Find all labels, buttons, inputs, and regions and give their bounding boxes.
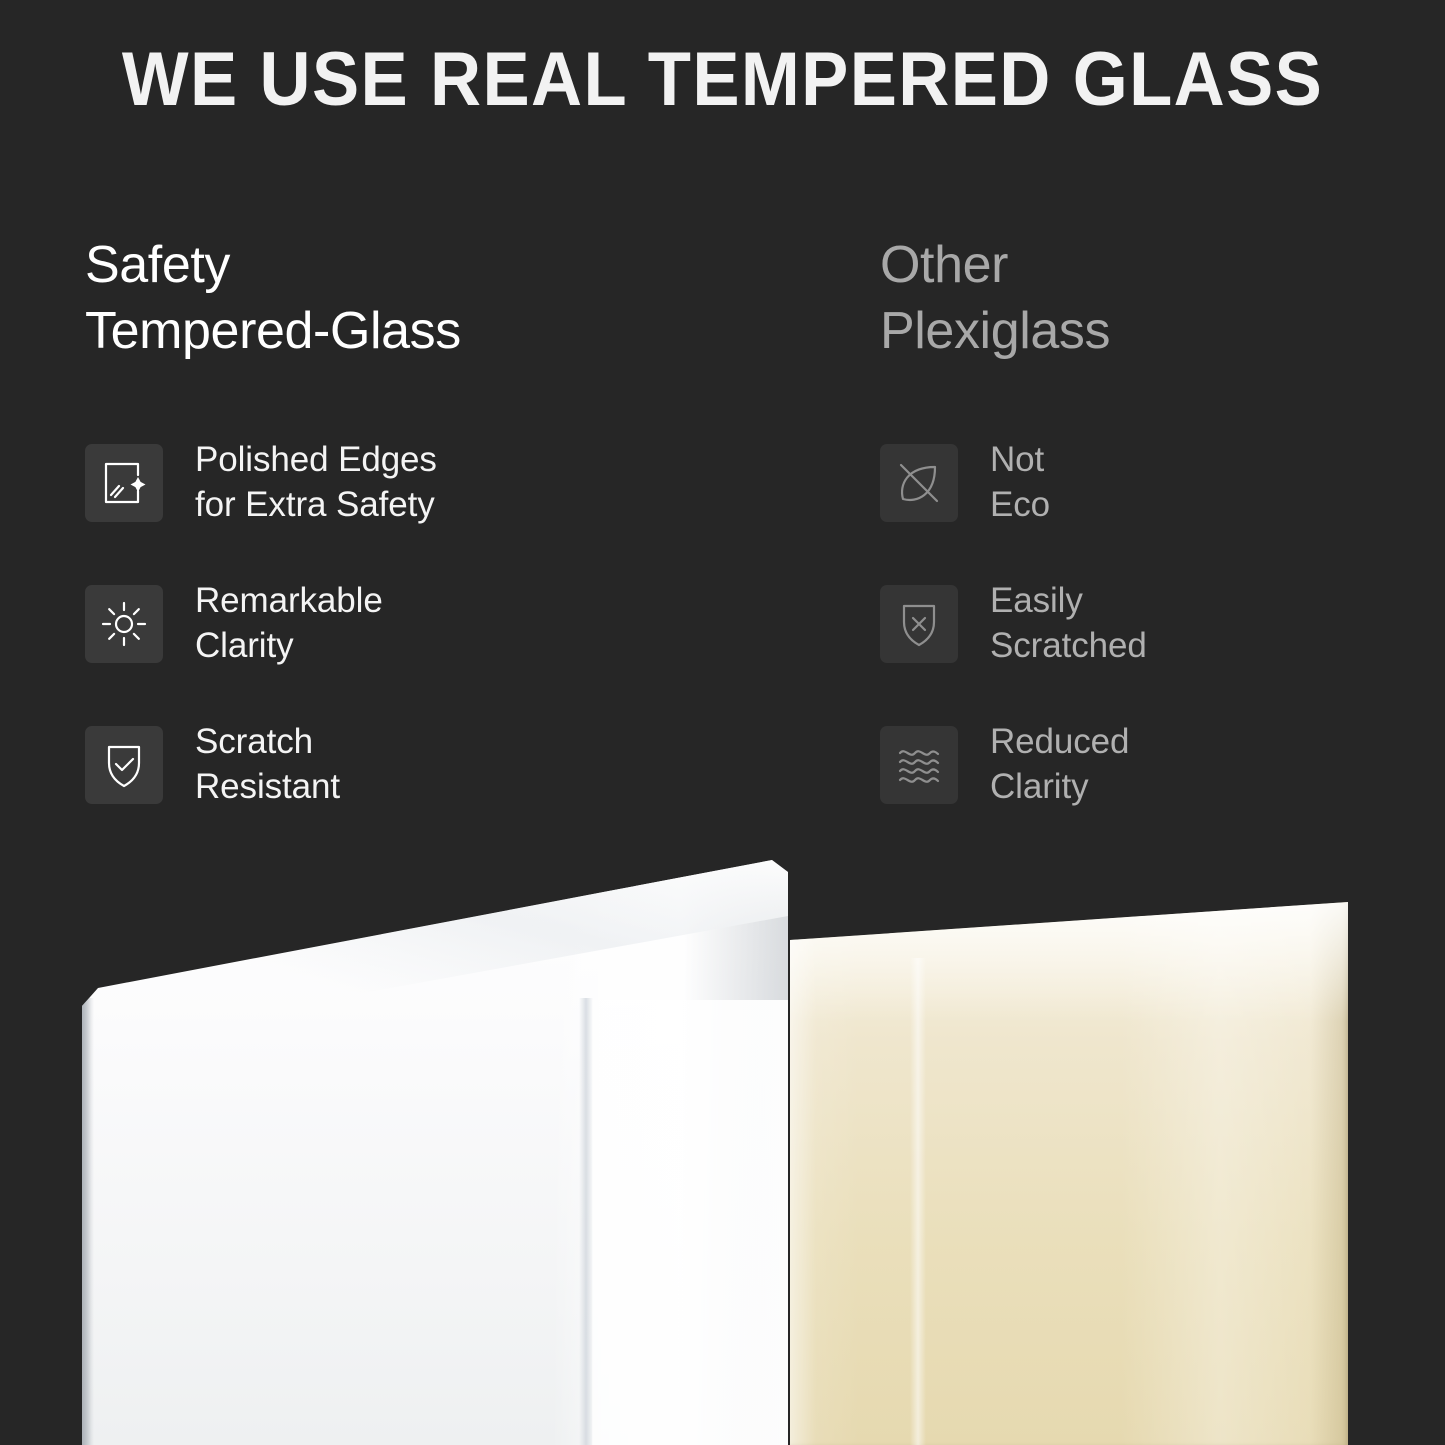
feature-label: Scratch Resistant (195, 720, 340, 810)
feature-list-tempered-glass: Polished Edges for Extra Safety (85, 444, 437, 804)
sun-icon (85, 585, 163, 663)
feature-label: Easily Scratched (990, 579, 1147, 669)
comparison-columns: Safety Tempered-Glass Polished Edges for… (0, 232, 1445, 852)
tempered-glass-reflection-seam (579, 998, 593, 1445)
shield-x-icon (880, 585, 958, 663)
feature-label: Reduced Clarity (990, 720, 1129, 810)
wavy-lines-icon (880, 726, 958, 804)
leaf-slash-icon (880, 444, 958, 522)
feature-label: Not Eco (990, 438, 1050, 528)
polished-pane-sparkle-icon (85, 444, 163, 522)
column-tempered-glass: Safety Tempered-Glass Polished Edges for… (85, 232, 645, 364)
tempered-glass-inner-reflection (592, 1000, 788, 1445)
plexiglass-reflection-seam (910, 958, 926, 1445)
column-heading-tempered-glass: Safety Tempered-Glass (85, 232, 645, 364)
plexiglass-panel (790, 902, 1348, 1445)
plexiglass-top-highlight (790, 902, 1348, 1022)
tempered-glass-panel (82, 858, 788, 1445)
feature-not-eco: Not Eco (880, 444, 1147, 522)
column-plexiglass: Other Plexiglass Not Eco (880, 232, 1440, 364)
feature-reduced-clarity: Reduced Clarity (880, 726, 1147, 804)
glass-panels-image (0, 840, 1445, 1445)
feature-polished-edges: Polished Edges for Extra Safety (85, 444, 437, 522)
feature-easily-scratched: Easily Scratched (880, 585, 1147, 663)
feature-label: Polished Edges for Extra Safety (195, 438, 437, 528)
page-title: WE USE REAL TEMPERED GLASS (51, 36, 1395, 123)
column-heading-plexiglass: Other Plexiglass (880, 232, 1440, 364)
feature-scratch-resistant: Scratch Resistant (85, 726, 437, 804)
feature-label: Remarkable Clarity (195, 579, 383, 669)
product-comparison-poster: WE USE REAL TEMPERED GLASS Safety Temper… (0, 0, 1445, 1445)
shield-check-icon (85, 726, 163, 804)
tempered-glass-left-bevel (82, 998, 94, 1445)
feature-list-plexiglass: Not Eco Easily Scratched (880, 444, 1147, 804)
feature-remarkable-clarity: Remarkable Clarity (85, 585, 437, 663)
